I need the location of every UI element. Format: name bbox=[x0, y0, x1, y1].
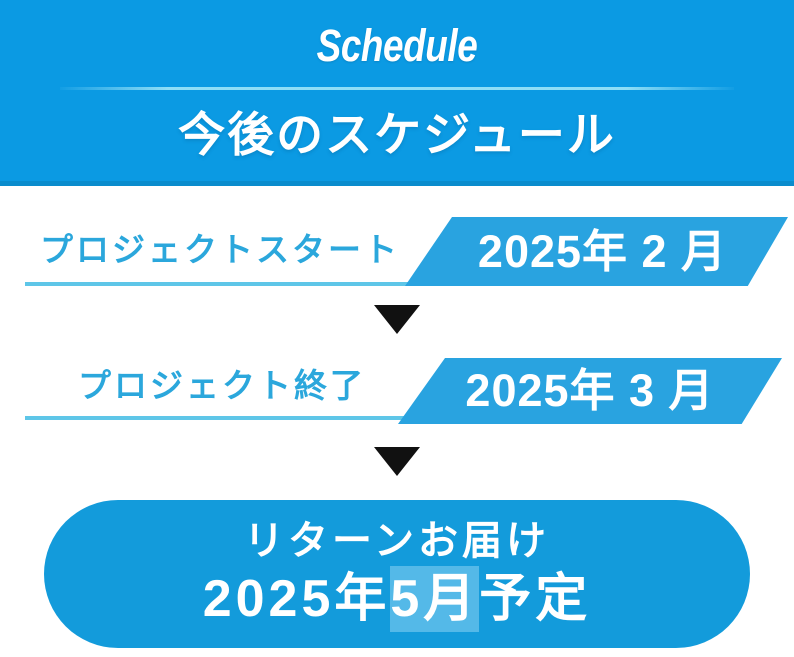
return-delivery-date-suffix: 予定 bbox=[479, 568, 591, 630]
triangle-down-icon bbox=[374, 305, 420, 334]
milestone-underline bbox=[25, 416, 415, 420]
header-bottom-edge bbox=[0, 181, 794, 186]
schedule-infographic: Schedule 今後のスケジュール プロジェクトスタート 2025年 2 月 … bbox=[0, 0, 794, 657]
milestone-row: プロジェクトスタート 2025年 2 月 bbox=[0, 206, 794, 298]
milestone-date-badge: 2025年 3 月 bbox=[398, 358, 782, 424]
header-title-ja: 今後のスケジュール bbox=[0, 104, 794, 166]
triangle-down-icon bbox=[374, 447, 420, 476]
return-delivery-date-highlight: 5月 bbox=[390, 566, 479, 632]
milestone-underline bbox=[25, 282, 425, 286]
header-title-en: Schedule bbox=[71, 20, 722, 72]
milestone-date: 2025年 2 月 bbox=[478, 226, 727, 278]
milestone-row: プロジェクト終了 2025年 3 月 bbox=[0, 350, 794, 438]
milestone-date: 2025年 3 月 bbox=[465, 365, 714, 417]
header-banner: Schedule 今後のスケジュール bbox=[0, 0, 794, 186]
milestone-date-badge: 2025年 2 月 bbox=[405, 217, 788, 286]
milestone-label: プロジェクト終了 bbox=[78, 366, 366, 406]
return-delivery-date: 2025年 5月 予定 bbox=[203, 566, 592, 632]
return-delivery-pill: リターンお届け 2025年 5月 予定 bbox=[44, 500, 750, 648]
header-divider bbox=[60, 87, 734, 90]
return-delivery-title: リターンお届け bbox=[244, 516, 550, 566]
return-delivery-date-prefix: 2025年 bbox=[203, 568, 391, 630]
milestone-label: プロジェクトスタート bbox=[40, 230, 400, 270]
